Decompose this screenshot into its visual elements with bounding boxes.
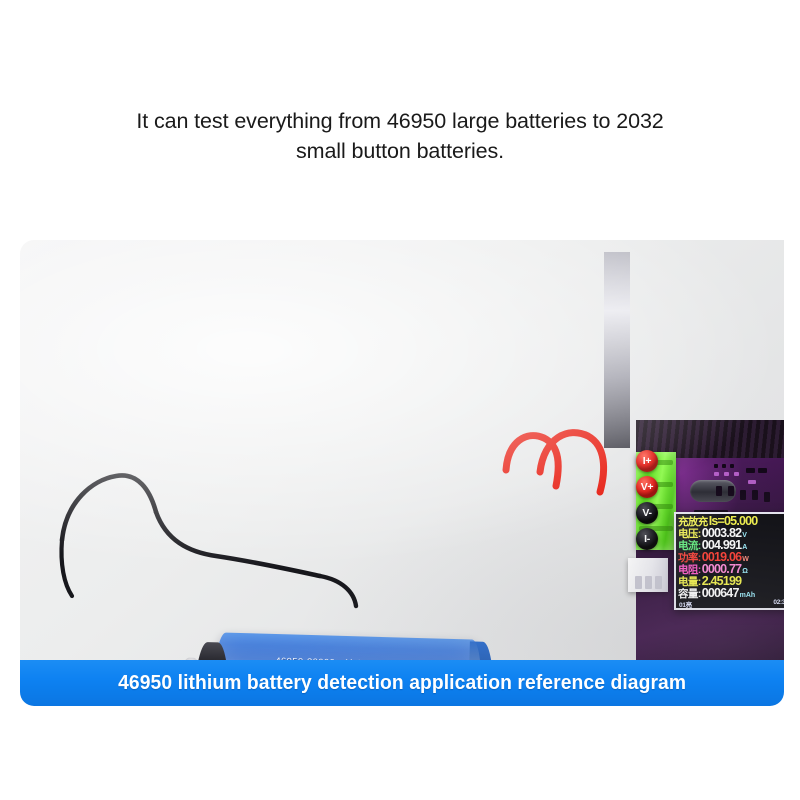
caption-bar: 46950 lithium battery detection applicat… [20, 660, 784, 706]
product-photo: 46950-30000mAh YOL:3.6V/4.2V 23C11720 01… [20, 240, 784, 660]
headline-line-2: small button batteries. [60, 136, 740, 166]
headline-line-1: It can test everything from 46950 large … [136, 109, 663, 133]
page-title: It can test everything from 46950 large … [60, 106, 740, 166]
product-info-page: It can test everything from 46950 large … [0, 0, 800, 800]
caption-text: 46950 lithium battery detection applicat… [118, 671, 686, 695]
